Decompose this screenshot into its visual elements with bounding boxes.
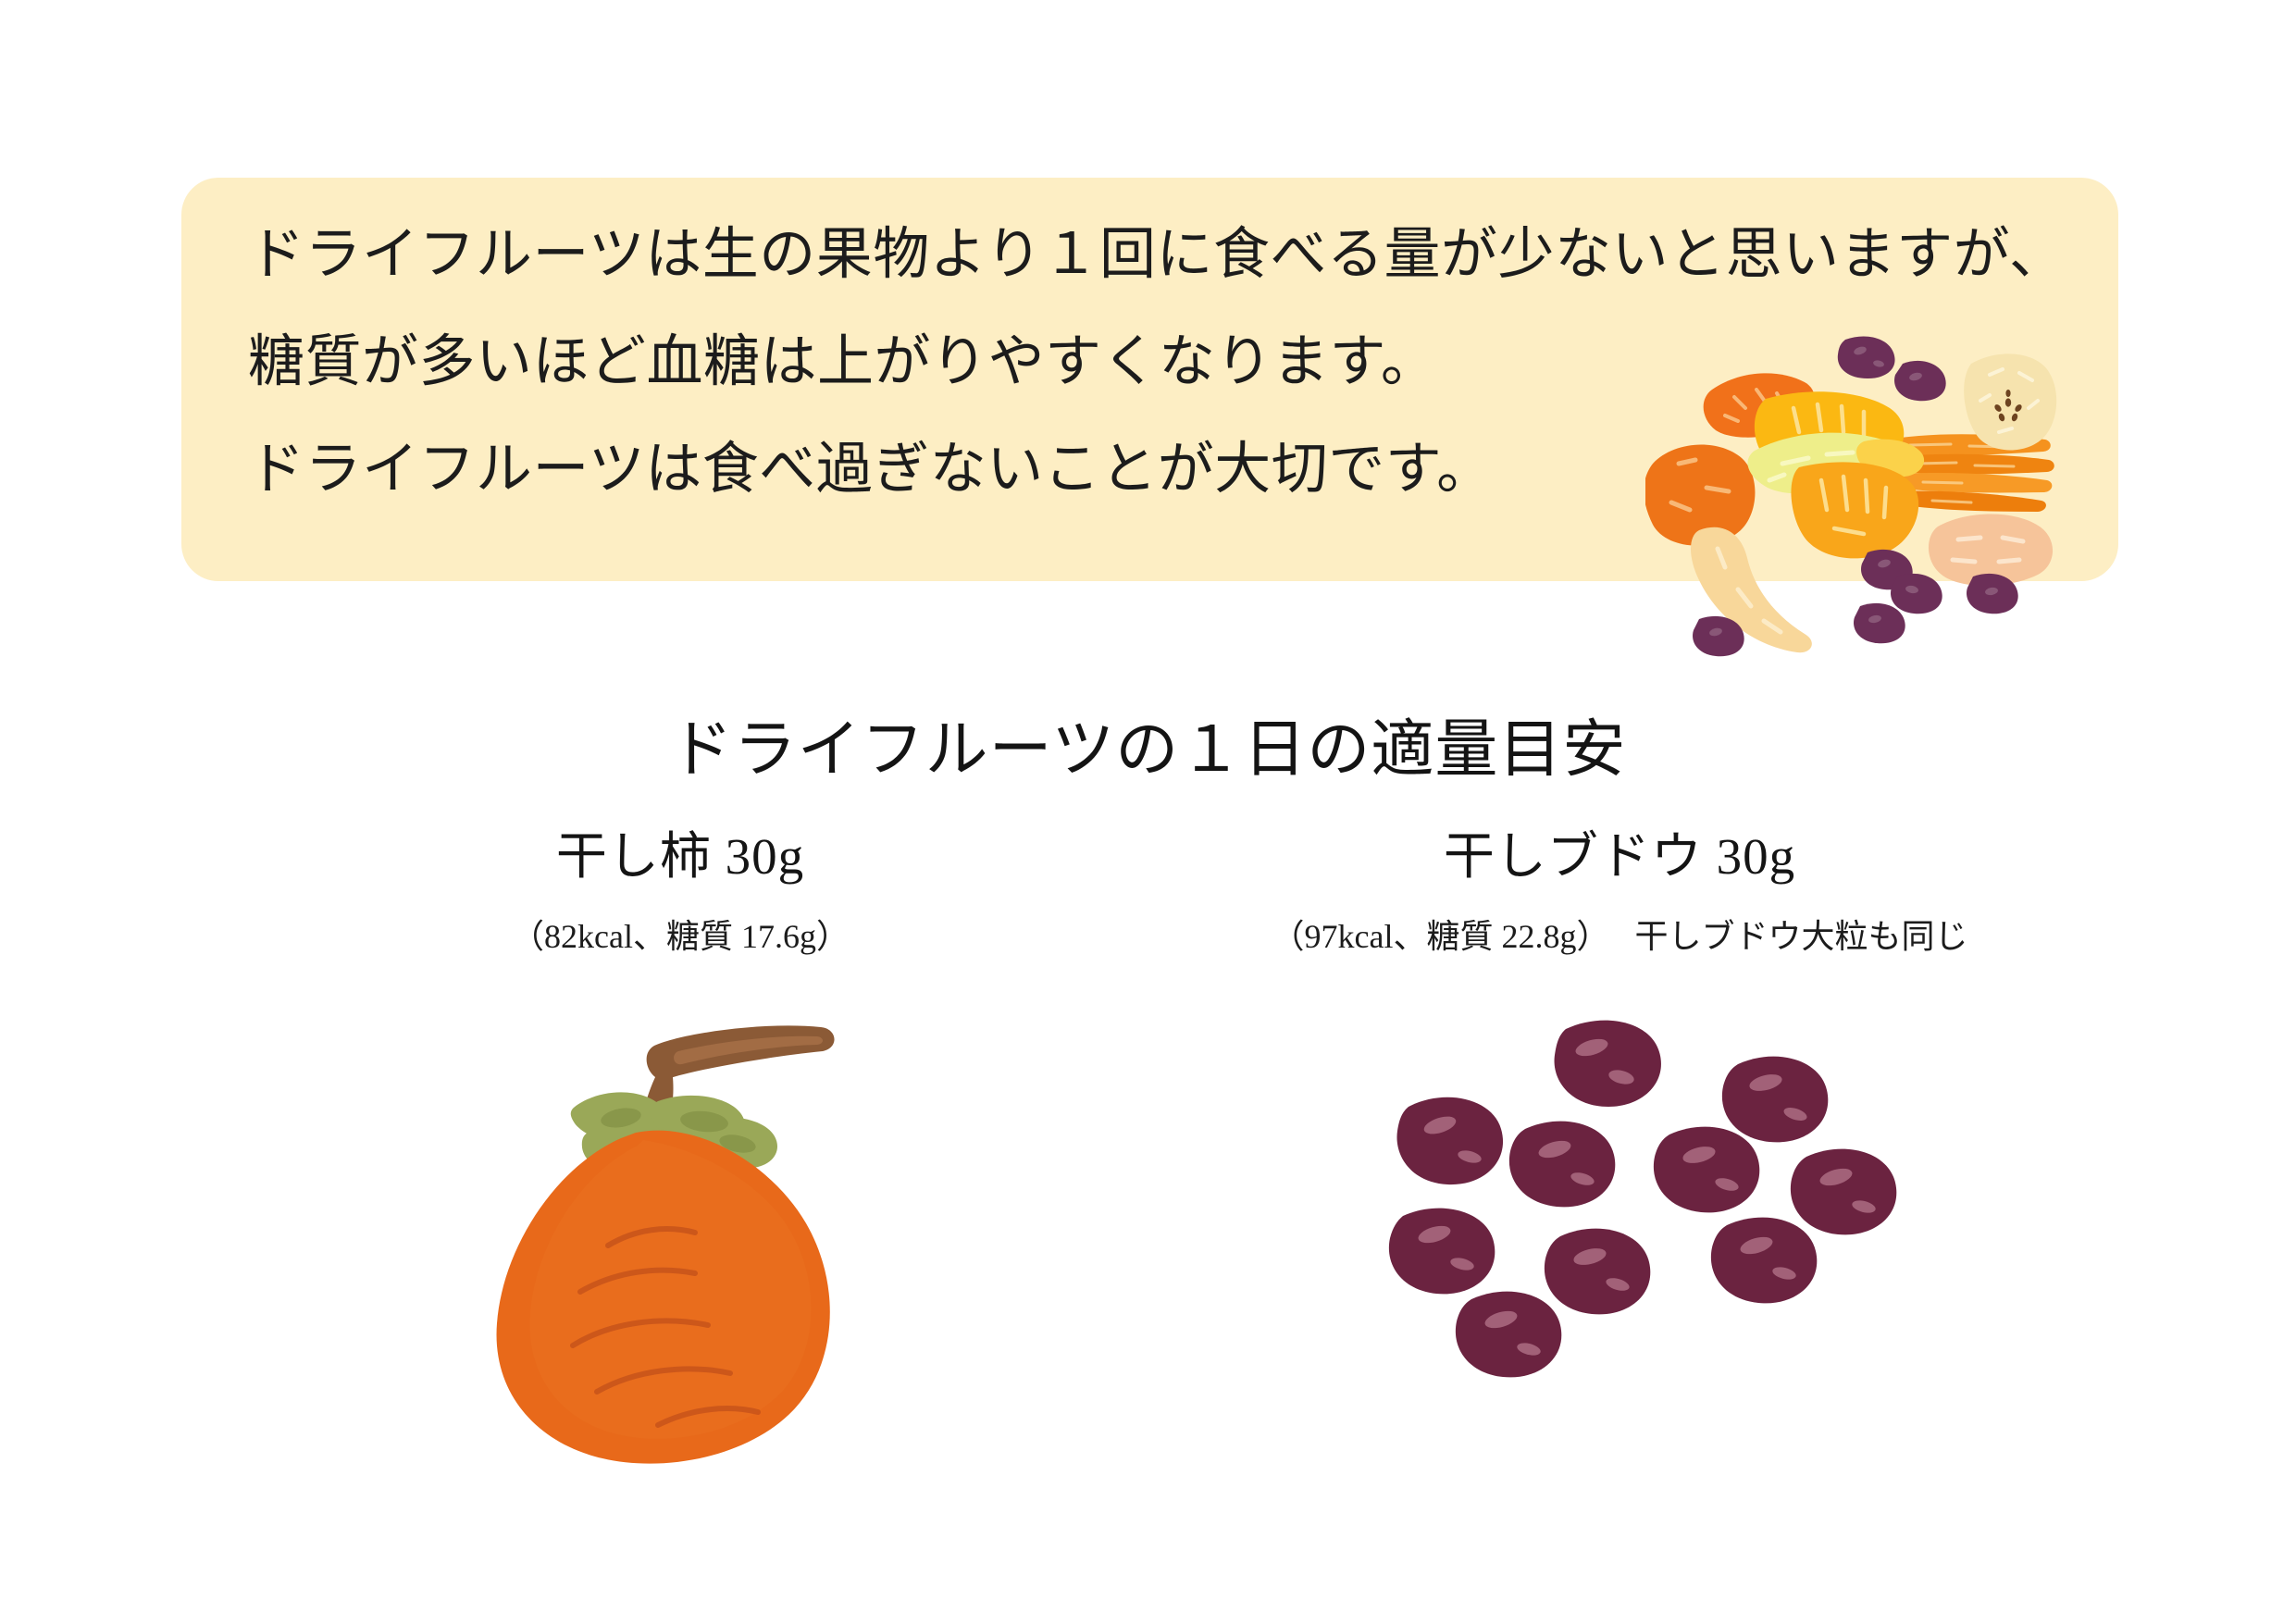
page-title: ドライフルーツの１日の適量目安	[0, 708, 2296, 791]
items-row: 干し柿 30g （82kcal、糖質 17.6g）	[0, 824, 2296, 1508]
raisins-icon	[1296, 990, 1943, 1453]
item-nutrition-text: （97kcal、糖質 22.8g）	[1272, 918, 1610, 955]
item-card-dried-persimmon: 干し柿 30g （82kcal、糖質 17.6g）	[264, 824, 1097, 1481]
item-nutrition: （82kcal、糖質 17.6g）	[264, 911, 1097, 962]
item-note: 干しブドウ大粒も同じ	[1634, 918, 1967, 955]
callout-line-1: ドライフルーツは生の果物より１回に食べる量が少ないと思いますが、	[248, 202, 2062, 309]
item-title: 干しブドウ 30g	[1203, 824, 2036, 890]
item-nutrition-text: （82kcal、糖質 17.6g）	[511, 918, 850, 955]
item-title: 干し柿 30g	[264, 824, 1097, 890]
item-nutrition: （97kcal、糖質 22.8g） 干しブドウ大粒も同じ	[1203, 911, 2036, 962]
dried-persimmon-icon	[440, 990, 921, 1481]
dried-fruit-mix-icon	[1645, 329, 2127, 662]
item-card-raisins: 干しブドウ 30g （97kcal、糖質 22.8g） 干しブドウ大粒も同じ	[1203, 824, 2036, 1453]
